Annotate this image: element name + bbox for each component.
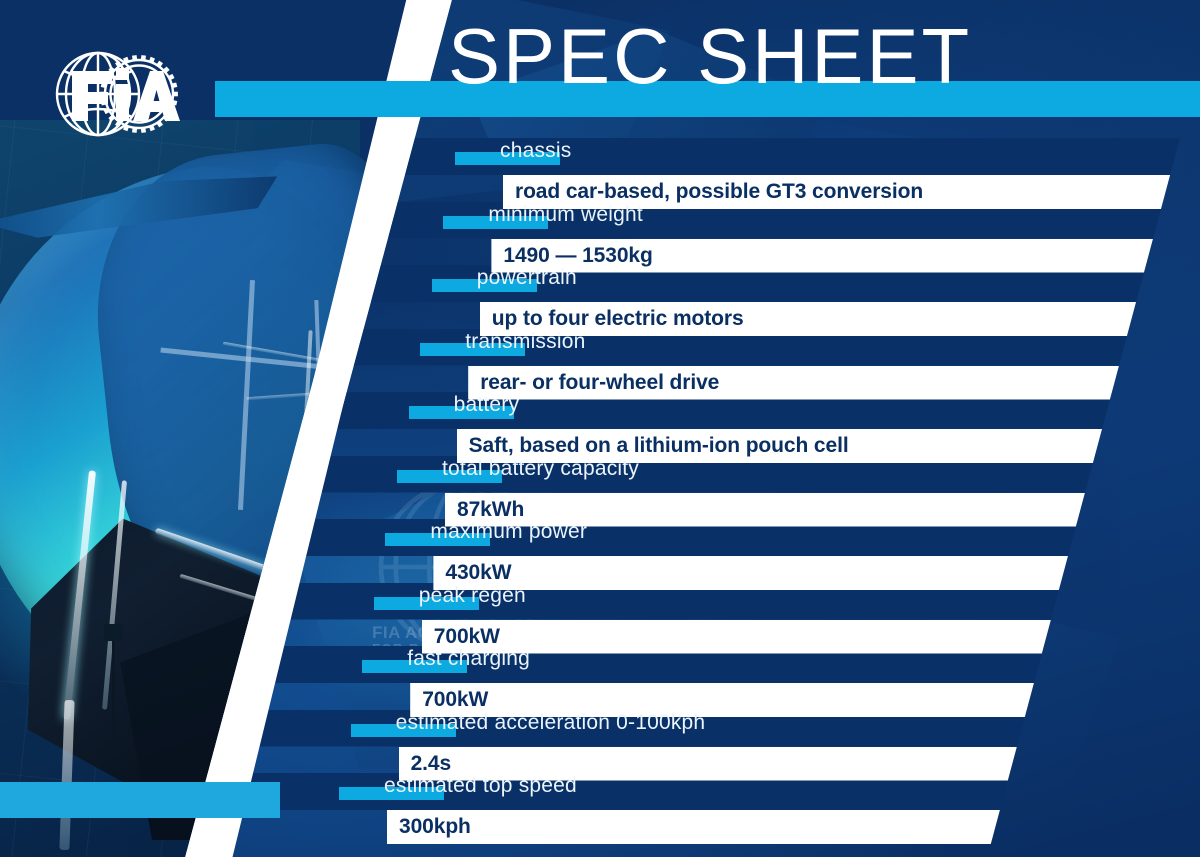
spec-sheet-page: FIA ACTION FOR ROAD SAFETY SPEC SHEET: [0, 0, 1200, 857]
spec-label: total battery capacity: [442, 458, 639, 479]
spec-value: 300kph: [399, 810, 471, 844]
spec-label: chassis: [500, 140, 571, 161]
spec-label: transmission: [465, 331, 585, 352]
spec-value-band: [387, 810, 1000, 844]
spec-label: estimated acceleration 0-100kph: [396, 712, 706, 733]
spec-label: powertrain: [477, 267, 577, 288]
spec-value-band: [433, 556, 1068, 590]
spec-label: minimum weight: [488, 204, 643, 225]
spec-label: estimated top speed: [384, 775, 577, 796]
spec-rows: chassisroad car-based, possible GT3 conv…: [0, 0, 1200, 857]
spec-label: maximum power: [430, 521, 587, 542]
spec-label: fast charging: [407, 648, 530, 669]
spec-row: estimated top speed300kph: [0, 0, 1200, 72]
spec-label: battery: [454, 394, 520, 415]
spec-label: peak regen: [419, 585, 526, 606]
